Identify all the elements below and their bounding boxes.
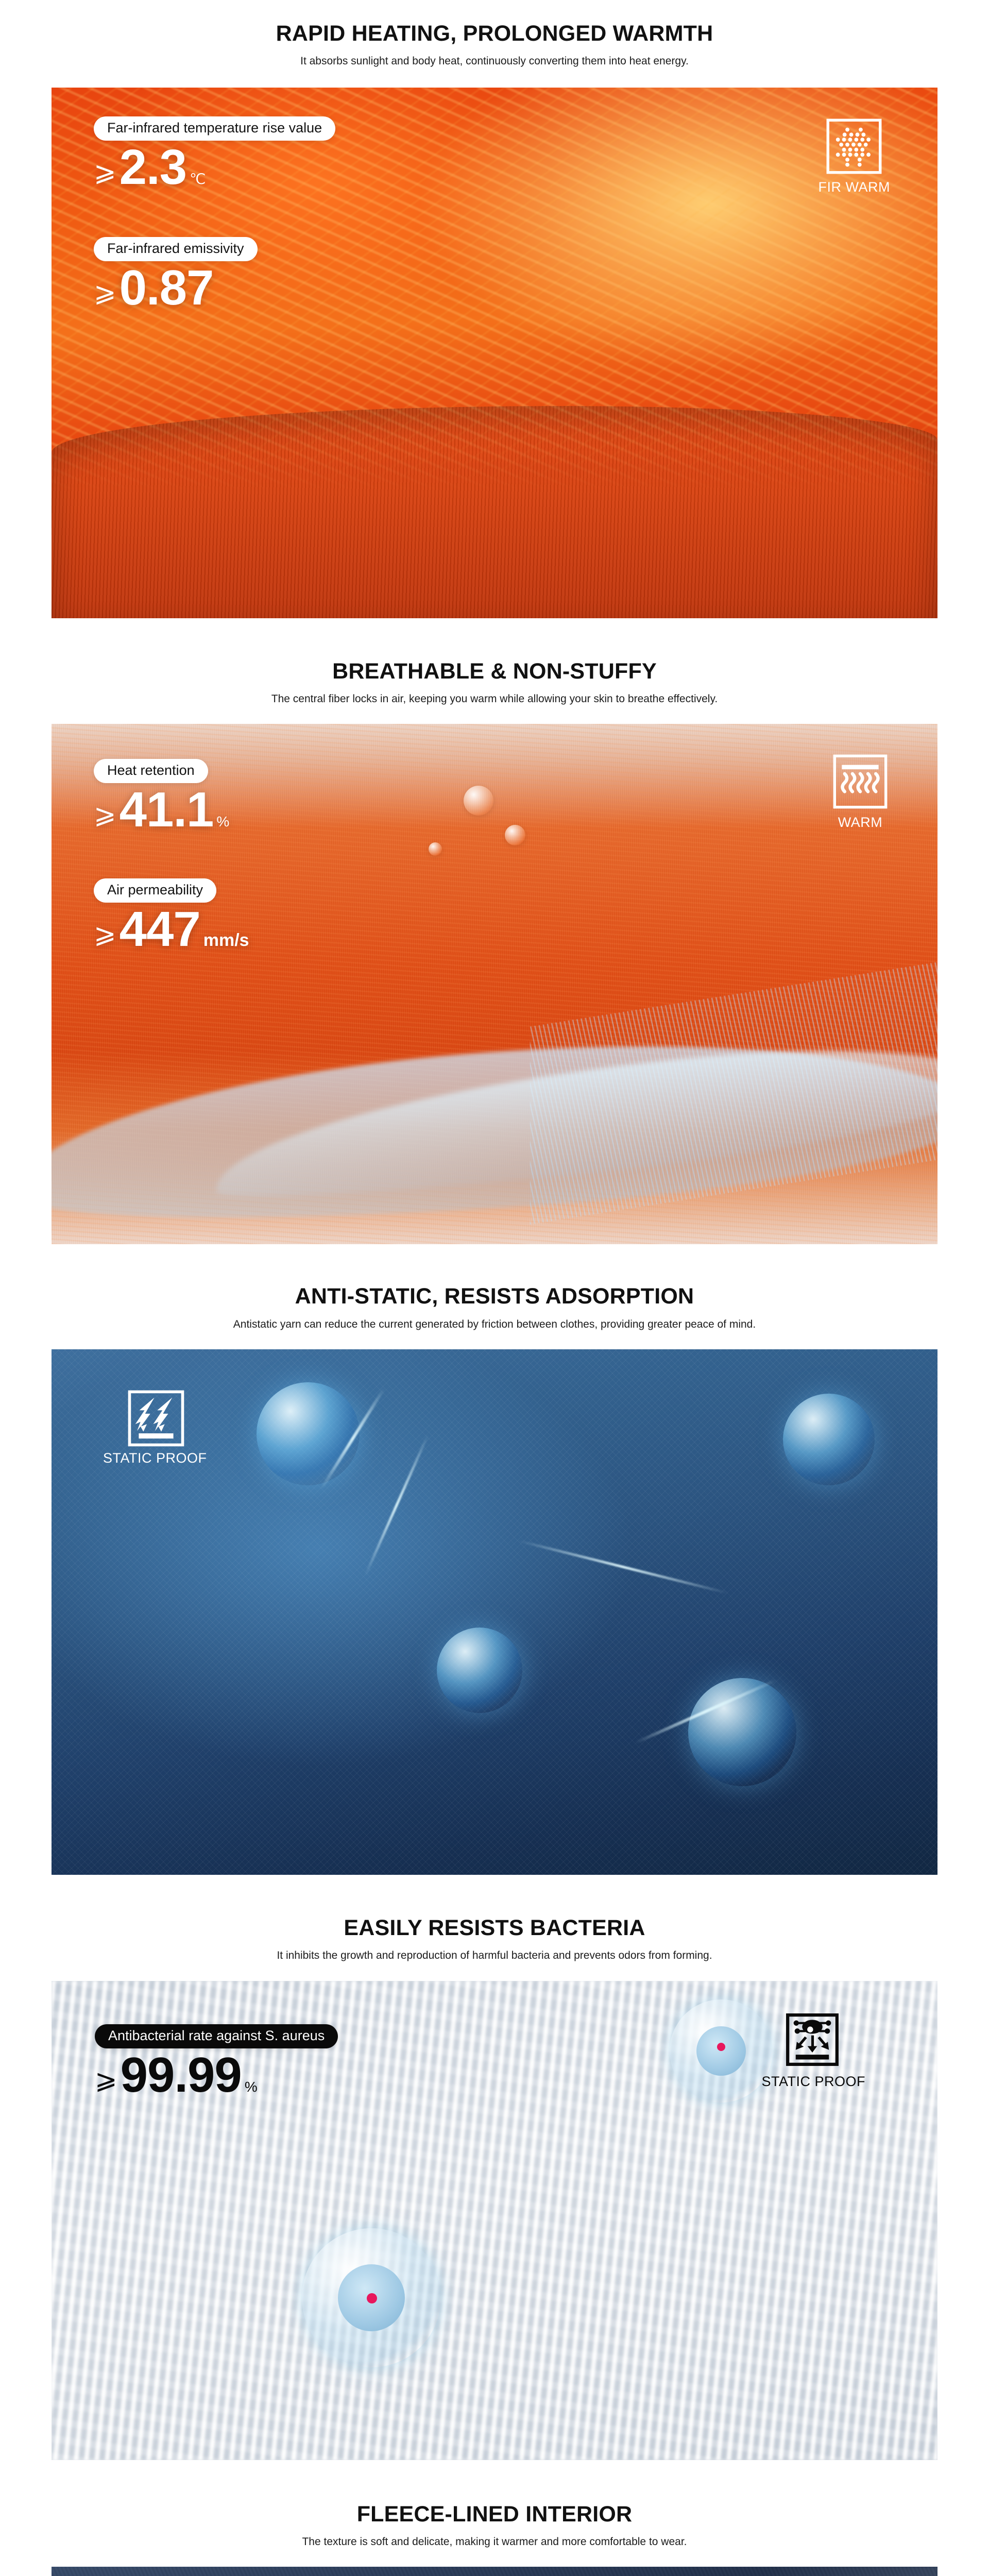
water-droplet bbox=[505, 825, 525, 845]
warm-icon bbox=[832, 754, 888, 809]
stat-label-pill: Antibacterial rate against S. aureus bbox=[95, 2024, 338, 2048]
feature-image-anti-bacteria: Antibacterial rate against S. aureus ⩾ 9… bbox=[52, 1981, 937, 2460]
bacteria-bubble bbox=[670, 1999, 773, 2103]
stat-air-permeability: Air permeability ⩾ 447 mm/s bbox=[94, 878, 249, 954]
stat-value-row: ⩾ 447 mm/s bbox=[94, 905, 249, 954]
fir-warm-icon bbox=[826, 118, 882, 174]
section-subtitle: Antistatic yarn can reduce the current g… bbox=[0, 1317, 989, 1332]
section-anti-bacteria: EASILY RESISTS BACTERIA It inhibits the … bbox=[0, 1875, 989, 2460]
stat-unit: % bbox=[245, 2080, 258, 2094]
stat-value-row: ⩾ 99.99 % bbox=[95, 2050, 338, 2100]
bacteria-proof-icon bbox=[786, 2013, 841, 2069]
section-title: EASILY RESISTS BACTERIA bbox=[0, 1916, 989, 1940]
energy-orb bbox=[257, 1382, 360, 1485]
stat-value-row: ⩾ 0.87 bbox=[94, 263, 258, 313]
stat-heat-retention: Heat retention ⩾ 41.1 % bbox=[94, 759, 229, 835]
badge-caption: FIR WARM bbox=[819, 179, 890, 195]
feature-image-breathable: Heat retention ⩾ 41.1 % Air permeability… bbox=[52, 724, 937, 1244]
section-subtitle: The texture is soft and delicate, making… bbox=[0, 2535, 989, 2549]
section-title: FLEECE-LINED INTERIOR bbox=[0, 2502, 989, 2527]
greater-equal-symbol: ⩾ bbox=[94, 921, 116, 947]
stat-value: 2.3 bbox=[120, 143, 186, 192]
stat-label-pill: Far-infrared temperature rise value bbox=[94, 116, 335, 141]
bacteria-nucleus bbox=[717, 2043, 725, 2051]
energy-orb bbox=[783, 1394, 875, 1485]
greater-equal-symbol: ⩾ bbox=[94, 279, 116, 306]
greater-equal-symbol: ⩾ bbox=[95, 2066, 117, 2093]
stat-label-pill: Far-infrared emissivity bbox=[94, 237, 258, 261]
stat-fir-temperature-rise: Far-infrared temperature rise value ⩾ 2.… bbox=[94, 116, 335, 192]
badge-caption: STATIC PROOF bbox=[103, 1450, 207, 1466]
section-header: FLEECE-LINED INTERIOR The texture is sof… bbox=[0, 2502, 989, 2550]
bacteria-core bbox=[696, 2026, 746, 2076]
badge-caption: WARM bbox=[832, 815, 888, 831]
section-title: ANTI-STATIC, RESISTS ADSORPTION bbox=[0, 1284, 989, 1309]
section-header: BREATHABLE & NON-STUFFY The central fibe… bbox=[0, 659, 989, 707]
section-anti-static: ANTI-STATIC, RESISTS ADSORPTION Antistat… bbox=[0, 1244, 989, 1875]
stat-value-row: ⩾ 41.1 % bbox=[94, 785, 229, 835]
section-subtitle: The central fiber locks in air, keeping … bbox=[0, 692, 989, 706]
stat-value: 447 bbox=[120, 905, 200, 954]
stat-label-pill: Air permeability bbox=[94, 878, 216, 903]
badge-bacteria-proof: STATIC PROOF bbox=[762, 2013, 866, 2090]
section-rapid-heating: RAPID HEATING, PROLONGED WARMTH It absor… bbox=[0, 0, 989, 618]
badge-caption: STATIC PROOF bbox=[762, 2074, 866, 2090]
section-header: EASILY RESISTS BACTERIA It inhibits the … bbox=[0, 1916, 989, 1963]
energy-orb bbox=[437, 1628, 522, 1713]
feature-image-anti-static: STATIC PROOF bbox=[52, 1349, 937, 1875]
feature-image-rapid-heating: Far-infrared temperature rise value ⩾ 2.… bbox=[52, 88, 937, 618]
product-feature-page: RAPID HEATING, PROLONGED WARMTH It absor… bbox=[0, 0, 989, 2576]
section-fleece-lined: FLEECE-LINED INTERIOR The texture is sof… bbox=[0, 2460, 989, 2576]
section-breathable: BREATHABLE & NON-STUFFY The central fibe… bbox=[0, 618, 989, 1245]
bacteria-nucleus bbox=[367, 2293, 377, 2303]
section-title: RAPID HEATING, PROLONGED WARMTH bbox=[0, 22, 989, 46]
fabric-fold bbox=[52, 406, 937, 618]
greater-equal-symbol: ⩾ bbox=[94, 159, 116, 185]
stat-label-pill: Heat retention bbox=[94, 759, 208, 783]
background-art bbox=[52, 2567, 937, 2576]
section-subtitle: It absorbs sunlight and body heat, conti… bbox=[0, 54, 989, 69]
stat-fir-emissivity: Far-infrared emissivity ⩾ 0.87 bbox=[94, 237, 258, 313]
section-subtitle: It inhibits the growth and reproduction … bbox=[0, 1948, 989, 1963]
stat-value-row: ⩾ 2.3 ℃ bbox=[94, 143, 335, 192]
feature-image-fleece-lined bbox=[52, 2567, 937, 2576]
stat-unit: mm/s bbox=[203, 931, 249, 949]
stat-unit: % bbox=[216, 815, 229, 829]
section-header: ANTI-STATIC, RESISTS ADSORPTION Antistat… bbox=[0, 1284, 989, 1332]
stat-value: 99.99 bbox=[121, 2050, 242, 2100]
badge-fir-warm: FIR WARM bbox=[819, 118, 890, 195]
bacteria-bubble bbox=[302, 2228, 441, 2367]
badge-static-proof: STATIC PROOF bbox=[103, 1389, 207, 1466]
stat-antibacterial-rate: Antibacterial rate against S. aureus ⩾ 9… bbox=[95, 2024, 338, 2100]
stat-value: 41.1 bbox=[120, 785, 214, 835]
badge-warm: WARM bbox=[832, 754, 888, 831]
static-proof-icon bbox=[127, 1389, 183, 1445]
section-header: RAPID HEATING, PROLONGED WARMTH It absor… bbox=[0, 22, 989, 69]
section-title: BREATHABLE & NON-STUFFY bbox=[0, 659, 989, 684]
stat-value: 0.87 bbox=[120, 263, 214, 313]
greater-equal-symbol: ⩾ bbox=[94, 801, 116, 828]
stat-unit: ℃ bbox=[190, 172, 206, 187]
water-droplet bbox=[464, 786, 493, 816]
